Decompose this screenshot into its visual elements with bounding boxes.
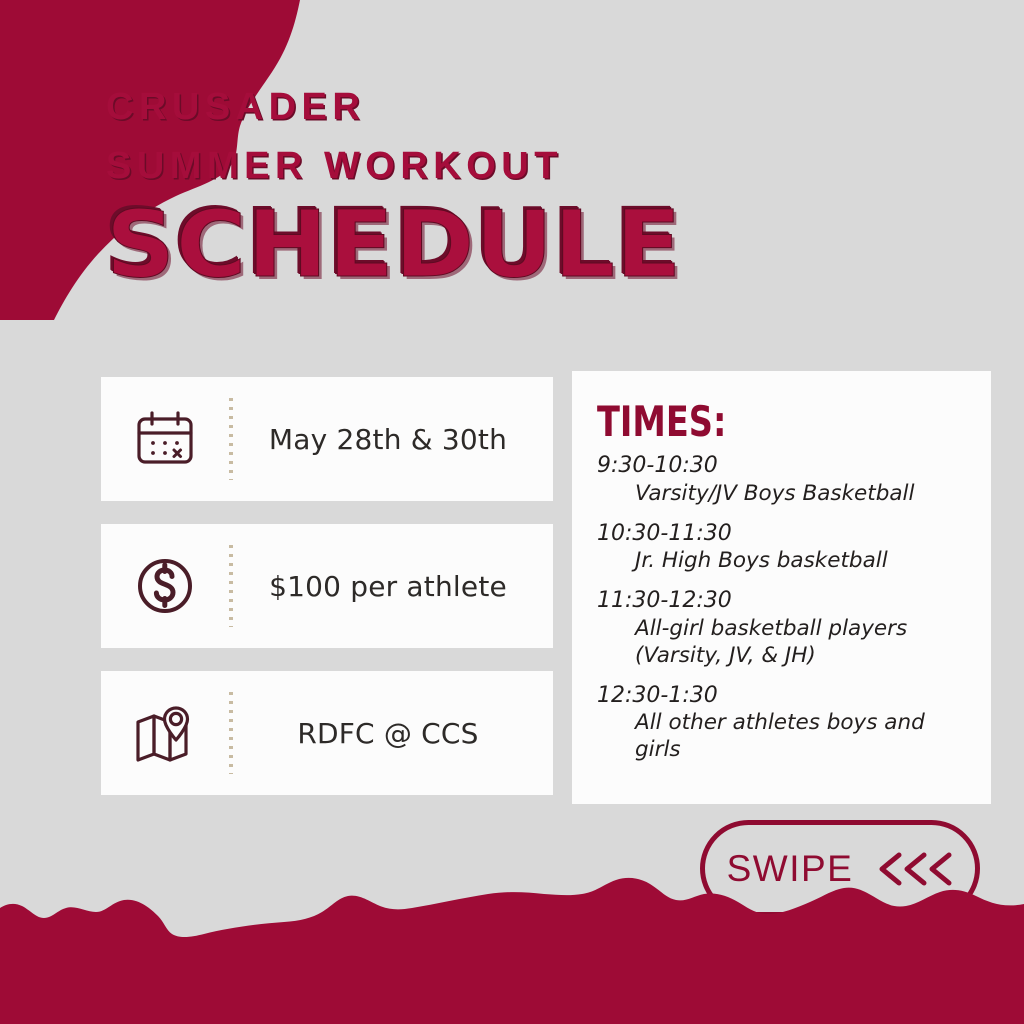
dollar-circle-icon: [101, 555, 229, 617]
time-description: Jr. High Boys basketball: [597, 547, 975, 574]
info-card-price: $100 per athlete: [101, 524, 553, 648]
triple-chevron-left-icon: [875, 848, 953, 890]
info-card-location-text: RDFC @ CCS: [233, 717, 553, 750]
info-card-location: RDFC @ CCS: [101, 671, 553, 795]
map-pin-icon: [101, 704, 229, 762]
time-range: 9:30-10:30: [597, 452, 975, 480]
times-title: TIMES:: [597, 401, 899, 443]
headline-line-1: CRUSADER: [106, 88, 746, 126]
time-range: 12:30-1:30: [597, 682, 975, 710]
headline-line-2: SUMMER WORKOUT: [106, 147, 746, 185]
swipe-button-label: SWIPE: [727, 848, 854, 890]
info-card-date-text: May 28th & 30th: [233, 423, 553, 456]
time-description: Varsity/JV Boys Basketball: [597, 480, 975, 507]
time-range: 10:30-11:30: [597, 520, 975, 548]
calendar-icon: [101, 411, 229, 467]
time-entry: 11:30-12:30 All-girl basketball players(…: [597, 587, 975, 669]
time-range: 11:30-12:30: [597, 587, 975, 615]
times-panel: TIMES: 9:30-10:30 Varsity/JV Boys Basket…: [572, 371, 991, 804]
headline-group: CRUSADER SUMMER WORKOUT SCHEDULE: [106, 88, 746, 291]
headline-schedule: SCHEDULE: [106, 199, 772, 291]
swipe-button[interactable]: SWIPE: [700, 820, 980, 917]
info-card-date: May 28th & 30th: [101, 377, 553, 501]
time-entry: 10:30-11:30 Jr. High Boys basketball: [597, 520, 975, 575]
info-card-price-text: $100 per athlete: [233, 570, 553, 603]
time-entry: 9:30-10:30 Varsity/JV Boys Basketball: [597, 452, 975, 507]
time-description: All-girl basketball players(Varsity, JV,…: [597, 615, 975, 669]
time-entry: 12:30-1:30 All other athletes boys and g…: [597, 682, 975, 764]
poster-canvas: CRUSADER SUMMER WORKOUT SCHEDULE May 28t…: [0, 0, 1024, 1024]
time-description: All other athletes boys and girls: [597, 709, 975, 763]
